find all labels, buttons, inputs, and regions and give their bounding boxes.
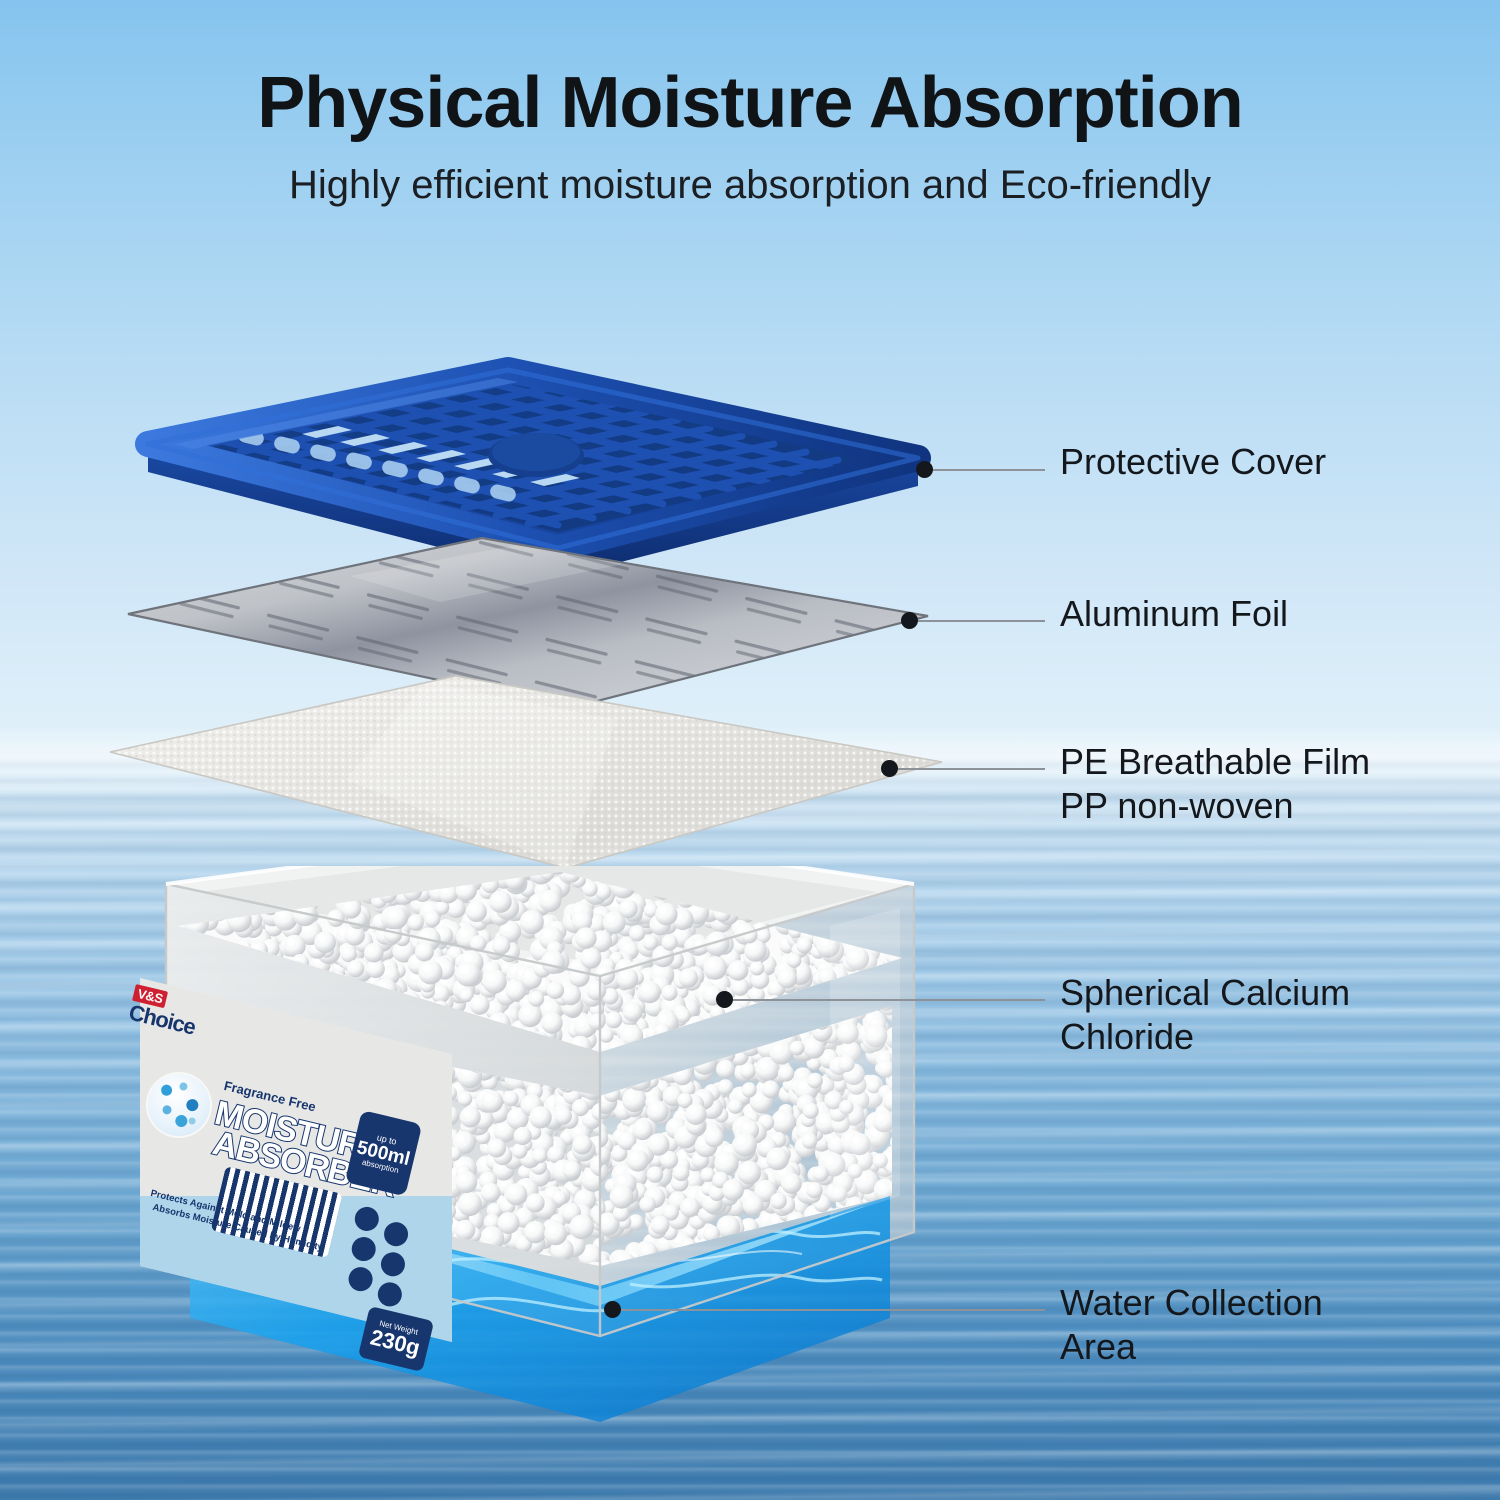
leader-dot-pe-breathable-film bbox=[881, 760, 898, 777]
callout-label-pe-breathable-film: PE Breathable Film PP non-woven bbox=[1060, 740, 1370, 828]
callout-label-aluminum-foil: Aluminum Foil bbox=[1060, 592, 1288, 636]
infographic-stage: Physical Moisture Absorption Highly effi… bbox=[0, 0, 1500, 1500]
container-layer: V&S Choice Fragrance Free MOISTURE ABSOR… bbox=[130, 866, 960, 1466]
leader-line-protective-cover bbox=[933, 469, 1045, 471]
leader-line-spherical-calcium-chloride bbox=[733, 999, 1045, 1001]
leader-dot-spherical-calcium-chloride bbox=[716, 991, 733, 1008]
leader-dot-water-collection-area bbox=[604, 1301, 621, 1318]
leader-line-aluminum-foil bbox=[918, 620, 1045, 622]
leader-line-water-collection-area bbox=[621, 1309, 1045, 1311]
leader-line-pe-breathable-film bbox=[898, 768, 1045, 770]
leader-dot-aluminum-foil bbox=[901, 612, 918, 629]
callout-label-spherical-calcium-chloride: Spherical Calcium Chloride bbox=[1060, 971, 1350, 1059]
container-svg bbox=[130, 866, 960, 1466]
callout-label-protective-cover: Protective Cover bbox=[1060, 440, 1326, 484]
leader-dot-protective-cover bbox=[916, 461, 933, 478]
callout-label-water-collection-area: Water Collection Area bbox=[1060, 1281, 1323, 1369]
